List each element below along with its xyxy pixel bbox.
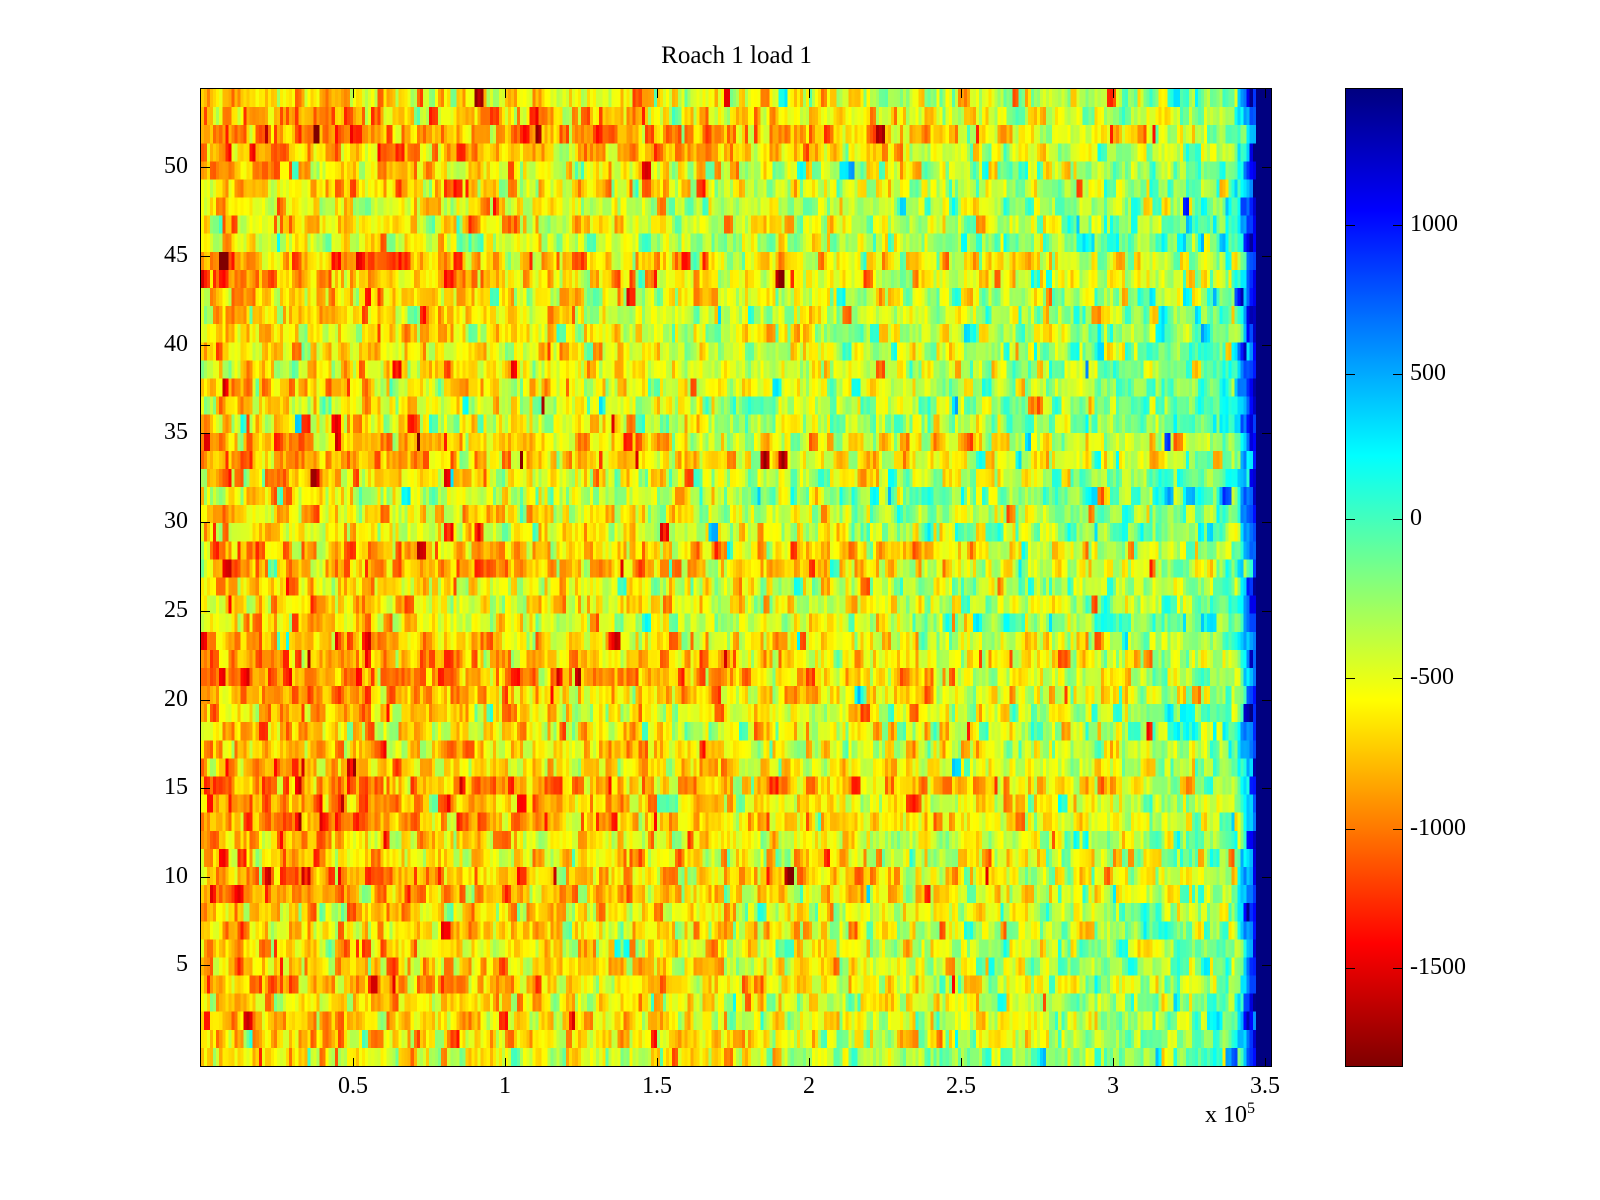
y-axis-tick [201,167,210,168]
y-axis-tick-label: 30 [108,507,188,535]
y-axis-tick-right [1262,256,1271,257]
x-axis-tick-label: 1.5 [597,1072,717,1100]
x-axis-tick-top [1265,89,1266,98]
x-axis-tick [1113,1058,1114,1067]
y-axis-tick-label: 20 [108,685,188,713]
x-axis-tick-top [505,89,506,98]
colorbar-tick-label: -1500 [1410,953,1466,981]
y-axis-tick-right [1262,965,1271,966]
x-axis-tick-top [961,89,962,98]
x-axis-tick [1265,1058,1266,1067]
colorbar-tick-label: -500 [1410,663,1454,691]
x-axis-tick-label: 2 [749,1072,869,1100]
y-axis-tick [201,965,210,966]
colorbar-tick-right [1393,374,1402,375]
y-axis-tick-label: 25 [108,596,188,624]
y-axis-tick-right [1262,877,1271,878]
exponent-mantissa: x 10 [1205,1102,1247,1128]
x-axis-exponent-label: x 105 [1205,1101,1255,1129]
page-title: Roach 1 load 1 [0,41,1473,71]
x-axis-tick-label: 3 [1053,1072,1173,1100]
y-axis-tick-label: 50 [108,152,188,180]
x-axis-tick [809,1058,810,1067]
x-axis-tick-top [657,89,658,98]
x-axis-tick [505,1058,506,1067]
x-axis-tick [657,1058,658,1067]
y-axis-tick [201,788,210,789]
x-axis-tick [353,1058,354,1067]
colorbar-tick [1346,678,1355,679]
x-axis-tick-top [353,89,354,98]
x-axis-tick-top [1113,89,1114,98]
y-axis-tick [201,256,210,257]
x-axis-tick-label: 1 [445,1072,565,1100]
y-axis-tick-right [1262,700,1271,701]
colorbar-tick-right [1393,225,1402,226]
x-axis-tick-top [809,89,810,98]
colorbar-tick-right [1393,678,1402,679]
x-axis-tick-label: 2.5 [901,1072,1021,1100]
y-axis-tick-label: 35 [108,418,188,446]
colorbar-tick-label: 1000 [1410,210,1458,238]
colorbar-gradient [1346,89,1402,1066]
heatmap-image[interactable] [201,89,1271,1066]
y-axis-tick [201,345,210,346]
colorbar-tick-right [1393,829,1402,830]
colorbar-tick [1346,968,1355,969]
y-axis-tick [201,877,210,878]
y-axis-tick [201,700,210,701]
colorbar-tick [1346,225,1355,226]
heatmap-axes[interactable] [200,88,1272,1067]
colorbar-tick-right [1393,519,1402,520]
colorbar-tick-right [1393,968,1402,969]
colorbar-tick [1346,829,1355,830]
exponent-power: 5 [1247,1100,1255,1117]
colorbar-tick-label: 500 [1410,359,1446,387]
y-axis-tick-right [1262,167,1271,168]
colorbar-tick [1346,374,1355,375]
y-axis-tick [201,433,210,434]
y-axis-tick-right [1262,433,1271,434]
x-axis-tick-label: 3.5 [1205,1072,1325,1100]
y-axis-tick-right [1262,345,1271,346]
figure-window: Roach 1 load 1 0.511.522.533.55101520253… [0,0,1600,1200]
colorbar-tick-label: -1000 [1410,814,1466,842]
y-axis-tick-right [1262,788,1271,789]
y-axis-tick-label: 45 [108,241,188,269]
x-axis-tick-label: 0.5 [293,1072,413,1100]
y-axis-tick-right [1262,611,1271,612]
y-axis-tick-label: 15 [108,773,188,801]
colorbar-tick-label: 0 [1410,504,1422,532]
x-axis-tick [961,1058,962,1067]
y-axis-tick-label: 10 [108,862,188,890]
colorbar-tick [1346,519,1355,520]
y-axis-tick-right [1262,522,1271,523]
colorbar[interactable] [1345,88,1403,1067]
y-axis-tick [201,522,210,523]
y-axis-tick-label: 40 [108,330,188,358]
y-axis-tick [201,611,210,612]
y-axis-tick-label: 5 [108,950,188,978]
